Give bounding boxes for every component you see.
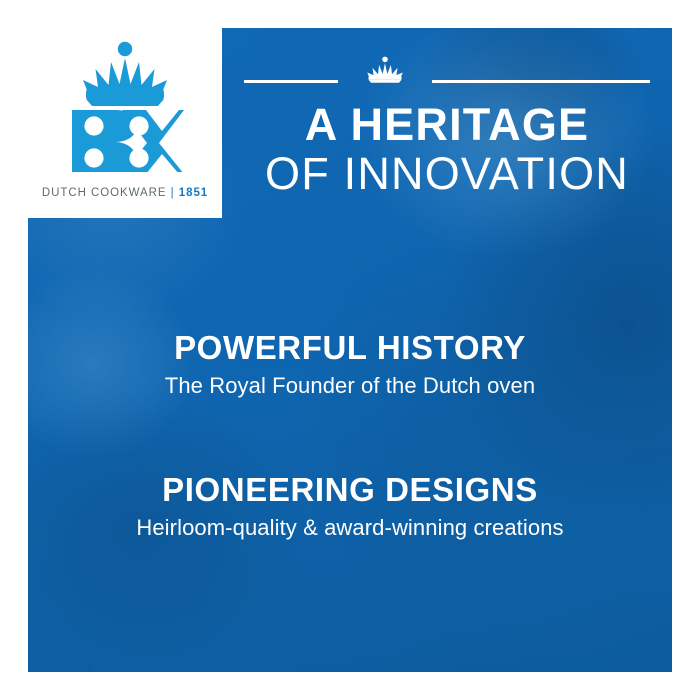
headline-primary: A HERITAGE	[222, 102, 672, 148]
message-subheading: Heirloom-quality & award-winning creatio…	[28, 514, 672, 542]
message-list: POWERFUL HISTORY The Royal Founder of th…	[28, 330, 672, 542]
crown-orb-icon	[118, 42, 132, 56]
crown-divider-row	[222, 48, 672, 92]
message-block: POWERFUL HISTORY The Royal Founder of th…	[28, 330, 672, 400]
headline-secondary: OF INNOVATION	[222, 150, 672, 198]
message-subheading: The Royal Founder of the Dutch oven	[28, 372, 672, 400]
tagline-separator: |	[171, 187, 175, 199]
bk-crown-monogram-icon	[66, 40, 184, 177]
monogram-dot	[84, 116, 103, 135]
poster-frame: DUTCH COOKWARE | 1851 A HERITAGE	[0, 0, 700, 700]
divider-right-rule	[432, 80, 650, 83]
tagline-main: DUTCH COOKWARE	[42, 187, 167, 199]
message-heading: POWERFUL HISTORY	[28, 330, 672, 366]
header-block: A HERITAGE OF INNOVATION	[222, 28, 672, 198]
monogram-dot	[129, 116, 148, 135]
brand-tagline: DUTCH COOKWARE | 1851	[42, 187, 208, 199]
monogram-dot	[84, 148, 103, 167]
divider-left-rule	[244, 80, 338, 83]
crown-icon	[360, 50, 410, 90]
brand-logo-card: DUTCH COOKWARE | 1851	[28, 28, 222, 218]
monogram-dot	[129, 148, 148, 167]
message-block: PIONEERING DESIGNS Heirloom-quality & aw…	[28, 472, 672, 542]
tagline-year: 1851	[179, 187, 208, 199]
message-heading: PIONEERING DESIGNS	[28, 472, 672, 508]
